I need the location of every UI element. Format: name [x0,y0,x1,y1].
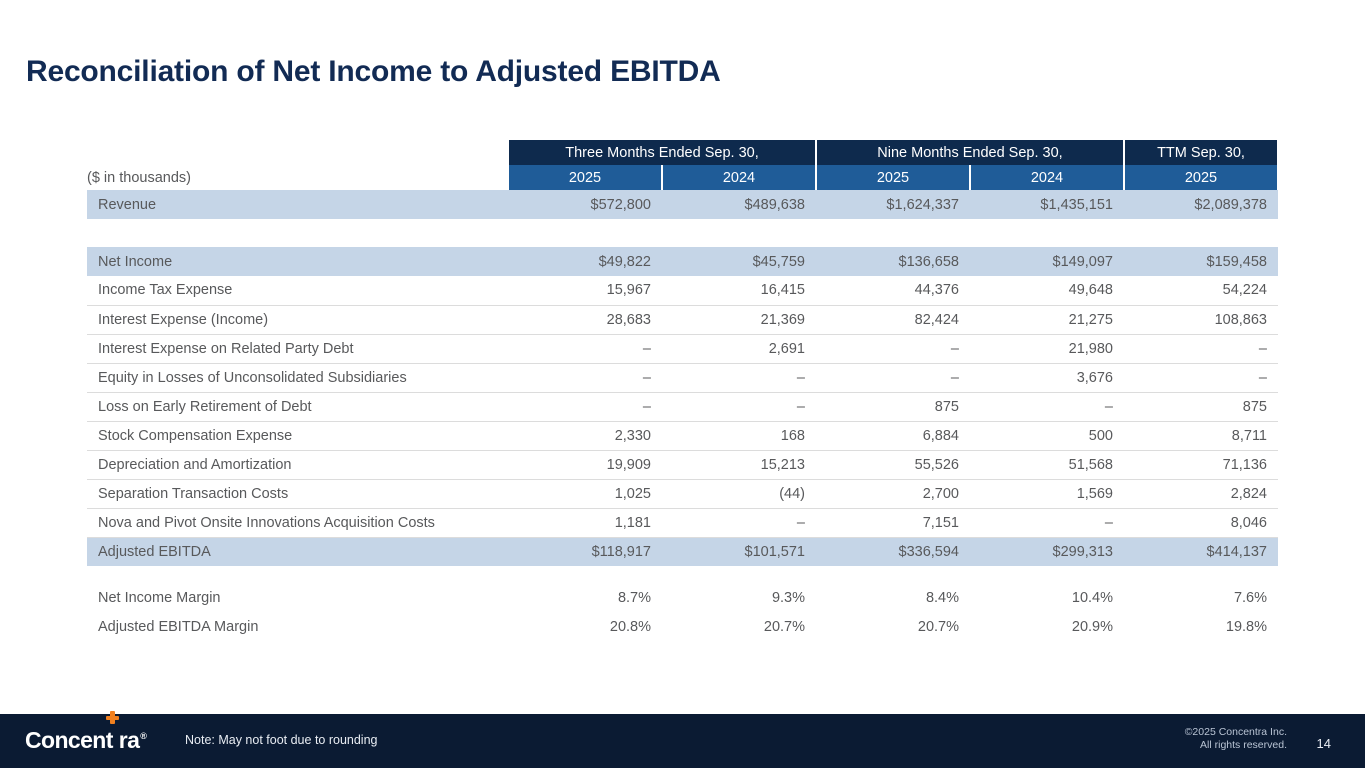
table-row: Interest Expense on Related Party Debt–2… [87,334,1278,363]
spacer-cell [970,219,1124,247]
row-value: $2,089,378 [1124,190,1278,219]
spacer-cell [970,566,1124,583]
row-value: 16,415 [662,276,816,305]
concentra-logo: Concentra® [25,727,146,754]
row-value: 19,909 [508,450,662,479]
spacer-cell [508,566,662,583]
row-value: 8,046 [1124,508,1278,537]
row-value: 51,568 [970,450,1124,479]
row-value: 54,224 [1124,276,1278,305]
row-value: 44,376 [816,276,970,305]
spacer-cell [662,566,816,583]
row-value: 7,151 [816,508,970,537]
table-row: Stock Compensation Expense2,3301686,8845… [87,421,1278,450]
year-header-q3-2025: 2025 [508,165,662,190]
row-value: – [970,508,1124,537]
row-value: $336,594 [816,537,970,566]
logo-t-stem: t [106,727,113,753]
row-value: 20.7% [662,612,816,641]
row-value: 7.6% [1124,583,1278,612]
table-row: Net Income Margin8.7%9.3%8.4%10.4%7.6% [87,583,1278,612]
row-value: 2,691 [662,334,816,363]
row-value: – [1124,334,1278,363]
table-row: Net Income$49,822$45,759$136,658$149,097… [87,247,1278,276]
table-row: Adjusted EBITDA$118,917$101,571$336,594$… [87,537,1278,566]
row-value: 9.3% [662,583,816,612]
spacer-cell [87,566,508,583]
table-row: Depreciation and Amortization19,90915,21… [87,450,1278,479]
row-value: $299,313 [970,537,1124,566]
orange-plus-icon [106,711,119,724]
row-value: $1,435,151 [970,190,1124,219]
row-value: $45,759 [662,247,816,276]
spacer-cell [87,219,508,247]
row-value: 10.4% [970,583,1124,612]
year-header-row: ($ in thousands) 2025 2024 2025 2024 202… [87,165,1278,190]
logo-text-part1: Concen [25,727,106,754]
row-label: Depreciation and Amortization [87,450,508,479]
row-value: 55,526 [816,450,970,479]
row-value: 49,648 [970,276,1124,305]
row-value: $136,658 [816,247,970,276]
table-row: Equity in Losses of Unconsolidated Subsi… [87,363,1278,392]
copyright-block: ©2025 Concentra Inc. All rights reserved… [1185,726,1287,752]
row-value: 2,700 [816,479,970,508]
table-header: Three Months Ended Sep. 30, Nine Months … [87,140,1278,190]
row-value: 21,275 [970,305,1124,334]
margin-section-spacer [87,566,1278,583]
row-value: 82,424 [816,305,970,334]
group-header-row: Three Months Ended Sep. 30, Nine Months … [87,140,1278,165]
reconciliation-table-area: Three Months Ended Sep. 30, Nine Months … [87,140,1278,641]
spacer-cell [508,219,662,247]
row-value: 1,181 [508,508,662,537]
header-spacer-cell [87,140,508,165]
spacer-cell [816,566,970,583]
registered-mark-icon: ® [140,731,146,741]
page-number: 14 [1317,736,1331,751]
row-label: Nova and Pivot Onsite Innovations Acquis… [87,508,508,537]
logo-cross-wrap: t [106,727,119,754]
spacer-cell [1124,219,1278,247]
row-value: – [508,392,662,421]
row-value: 875 [816,392,970,421]
year-header-ytd-2025: 2025 [816,165,970,190]
spacer-cell [1124,566,1278,583]
row-value: – [662,392,816,421]
table-row: Income Tax Expense15,96716,41544,37649,6… [87,276,1278,305]
table-row: Revenue$572,800$489,638$1,624,337$1,435,… [87,190,1278,219]
row-value: 1,569 [970,479,1124,508]
row-value: 875 [1124,392,1278,421]
row-value: – [816,363,970,392]
row-value: $149,097 [970,247,1124,276]
row-value: – [662,363,816,392]
row-value: – [970,392,1124,421]
row-value: 500 [970,421,1124,450]
year-header-ttm-2025: 2025 [1124,165,1278,190]
row-value: 20.9% [970,612,1124,641]
copyright-line-2: All rights reserved. [1185,739,1287,752]
row-label: Income Tax Expense [87,276,508,305]
row-value: 168 [662,421,816,450]
row-value: $159,458 [1124,247,1278,276]
row-value: 2,824 [1124,479,1278,508]
logo-text-part2: ra [119,727,140,754]
group-header-three-months: Three Months Ended Sep. 30, [508,140,816,165]
row-label: Net Income [87,247,508,276]
row-value: $1,624,337 [816,190,970,219]
row-label: Equity in Losses of Unconsolidated Subsi… [87,363,508,392]
row-label: Interest Expense on Related Party Debt [87,334,508,363]
row-value: – [508,363,662,392]
group-header-ttm: TTM Sep. 30, [1124,140,1278,165]
row-label: Interest Expense (Income) [87,305,508,334]
unit-label: ($ in thousands) [87,165,508,190]
row-label: Adjusted EBITDA [87,537,508,566]
row-value: $49,822 [508,247,662,276]
row-value: 28,683 [508,305,662,334]
group-header-nine-months: Nine Months Ended Sep. 30, [816,140,1124,165]
row-value: 15,967 [508,276,662,305]
row-value: 20.8% [508,612,662,641]
row-value: 19.8% [1124,612,1278,641]
row-value: $118,917 [508,537,662,566]
row-label: Revenue [87,190,508,219]
row-label: Net Income Margin [87,583,508,612]
row-value: 21,369 [662,305,816,334]
row-value: – [1124,363,1278,392]
row-value: 15,213 [662,450,816,479]
row-value: $414,137 [1124,537,1278,566]
row-value: 108,863 [1124,305,1278,334]
row-value: – [508,334,662,363]
table-row: Loss on Early Retirement of Debt––875–87… [87,392,1278,421]
table-row: Adjusted EBITDA Margin20.8%20.7%20.7%20.… [87,612,1278,641]
row-value: 1,025 [508,479,662,508]
row-value: 8.7% [508,583,662,612]
row-value: 8,711 [1124,421,1278,450]
footer-note: Note: May not foot due to rounding [185,733,378,747]
row-value: $572,800 [508,190,662,219]
row-value: 21,980 [970,334,1124,363]
table-row: Nova and Pivot Onsite Innovations Acquis… [87,508,1278,537]
row-value: – [816,334,970,363]
slide-footer: Concentra® Note: May not foot due to rou… [0,714,1365,768]
row-value: 20.7% [816,612,970,641]
row-label: Stock Compensation Expense [87,421,508,450]
row-value: 3,676 [970,363,1124,392]
row-value: 2,330 [508,421,662,450]
row-label: Adjusted EBITDA Margin [87,612,508,641]
row-label: Separation Transaction Costs [87,479,508,508]
copyright-line-1: ©2025 Concentra Inc. [1185,726,1287,739]
row-spacer [87,219,1278,247]
row-value: – [662,508,816,537]
spacer-cell [816,219,970,247]
row-value: 8.4% [816,583,970,612]
row-label: Loss on Early Retirement of Debt [87,392,508,421]
reconciliation-table: Three Months Ended Sep. 30, Nine Months … [87,140,1279,641]
spacer-cell [662,219,816,247]
page-title: Reconciliation of Net Income to Adjusted… [26,55,721,89]
row-value: 6,884 [816,421,970,450]
year-header-q3-2024: 2024 [662,165,816,190]
row-value: (44) [662,479,816,508]
year-header-ytd-2024: 2024 [970,165,1124,190]
table-row: Interest Expense (Income)28,68321,36982,… [87,305,1278,334]
row-value: $489,638 [662,190,816,219]
row-value: 71,136 [1124,450,1278,479]
row-value: $101,571 [662,537,816,566]
table-row: Separation Transaction Costs1,025(44)2,7… [87,479,1278,508]
table-body: Revenue$572,800$489,638$1,624,337$1,435,… [87,190,1278,641]
